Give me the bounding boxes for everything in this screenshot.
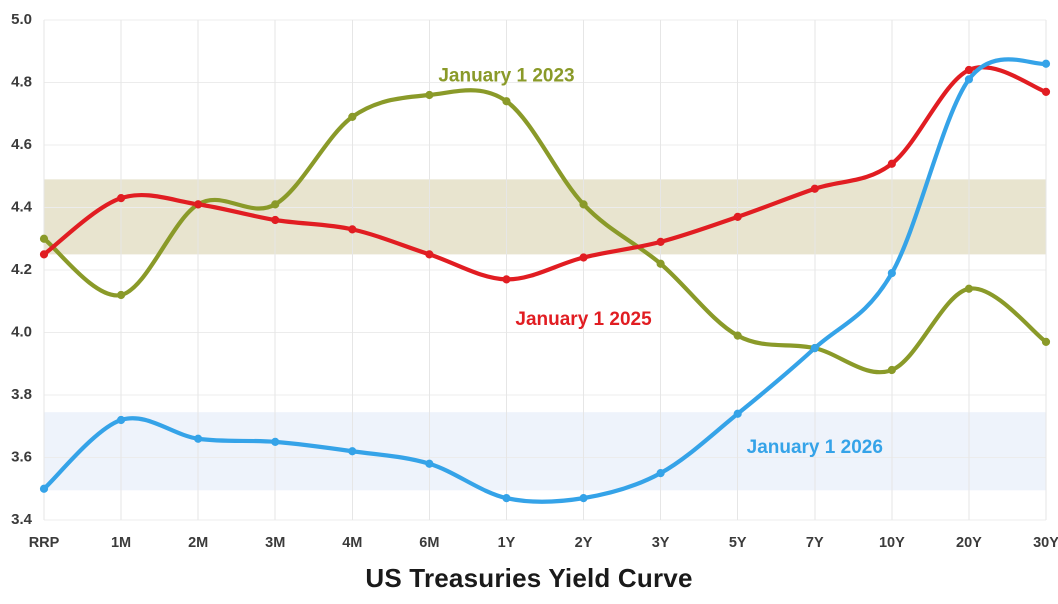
data-point-january-1-2023-2y bbox=[580, 201, 587, 208]
data-point-january-1-2025-3m bbox=[272, 216, 279, 223]
y-tick-label: 4.0 bbox=[11, 323, 32, 340]
y-tick-label: 4.2 bbox=[11, 261, 32, 278]
y-tick-label: 3.4 bbox=[11, 511, 33, 528]
data-point-january-1-2026-rrp bbox=[40, 485, 47, 492]
data-point-january-1-2025-2m bbox=[195, 201, 202, 208]
chart-title: US Treasuries Yield Curve bbox=[365, 563, 692, 593]
data-point-january-1-2025-4m bbox=[349, 226, 356, 233]
data-point-january-1-2026-4m bbox=[349, 448, 356, 455]
data-point-january-1-2026-2m bbox=[195, 435, 202, 442]
y-tick-label: 4.8 bbox=[11, 73, 32, 90]
data-point-january-1-2025-5y bbox=[734, 213, 741, 220]
data-point-january-1-2023-1y bbox=[503, 98, 510, 105]
data-point-january-1-2026-1y bbox=[503, 495, 510, 502]
y-tick-label: 4.4 bbox=[11, 198, 33, 215]
band-lower-band bbox=[44, 412, 1046, 490]
x-tick-label-4m: 4M bbox=[342, 535, 362, 551]
data-point-january-1-2023-3y bbox=[657, 260, 664, 267]
x-tick-label-7y: 7Y bbox=[806, 535, 824, 551]
data-point-january-1-2026-6m bbox=[426, 460, 433, 467]
x-tick-label-2m: 2M bbox=[188, 535, 208, 551]
data-point-january-1-2026-3m bbox=[272, 438, 279, 445]
y-axis-tick-labels: 3.43.63.84.04.24.44.64.85.0 bbox=[11, 11, 33, 528]
data-point-january-1-2026-3y bbox=[657, 470, 664, 477]
y-tick-label: 3.8 bbox=[11, 386, 32, 403]
x-tick-label-5y: 5Y bbox=[729, 535, 747, 551]
series-annotation-january-1-2026: January 1 2026 bbox=[747, 437, 883, 458]
x-tick-label-1y: 1Y bbox=[498, 535, 516, 551]
data-point-january-1-2026-10y bbox=[888, 270, 895, 277]
data-point-january-1-2026-20y bbox=[965, 76, 972, 83]
chart-page: 3.43.63.84.04.24.44.64.85.0 RRP1M2M3M4M6… bbox=[0, 0, 1058, 604]
y-tick-label: 5.0 bbox=[11, 11, 32, 28]
data-point-january-1-2025-30y bbox=[1042, 88, 1049, 95]
data-point-january-1-2023-6m bbox=[426, 91, 433, 98]
y-tick-label: 4.6 bbox=[11, 136, 32, 153]
band-upper-band bbox=[44, 179, 1046, 254]
data-point-january-1-2025-3y bbox=[657, 238, 664, 245]
data-point-january-1-2026-30y bbox=[1042, 60, 1049, 67]
series-annotation-january-1-2025: January 1 2025 bbox=[515, 309, 652, 330]
data-point-january-1-2026-2y bbox=[580, 495, 587, 502]
data-point-january-1-2025-7y bbox=[811, 185, 818, 192]
x-tick-label-30y: 30Y bbox=[1033, 535, 1058, 551]
data-point-january-1-2023-30y bbox=[1042, 338, 1049, 345]
x-tick-label-3y: 3Y bbox=[652, 535, 670, 551]
data-point-january-1-2026-7y bbox=[811, 345, 818, 352]
data-point-january-1-2026-1m bbox=[117, 416, 124, 423]
x-tick-label-rrp: RRP bbox=[29, 535, 60, 551]
data-point-january-1-2025-2y bbox=[580, 254, 587, 261]
data-point-january-1-2025-1m bbox=[117, 195, 124, 202]
data-point-january-1-2023-10y bbox=[888, 366, 895, 373]
x-tick-label-1m: 1M bbox=[111, 535, 131, 551]
data-point-january-1-2023-5y bbox=[734, 332, 741, 339]
data-point-january-1-2025-1y bbox=[503, 276, 510, 283]
data-point-january-1-2025-6m bbox=[426, 251, 433, 258]
data-point-january-1-2025-10y bbox=[888, 160, 895, 167]
data-point-january-1-2023-rrp bbox=[40, 235, 47, 242]
series-annotation-january-1-2023: January 1 2023 bbox=[438, 65, 574, 86]
x-tick-label-6m: 6M bbox=[419, 535, 439, 551]
data-point-january-1-2026-5y bbox=[734, 410, 741, 417]
data-point-january-1-2023-4m bbox=[349, 113, 356, 120]
x-tick-label-10y: 10Y bbox=[879, 535, 905, 551]
data-point-january-1-2023-3m bbox=[272, 201, 279, 208]
yield-curve-chart: 3.43.63.84.04.24.44.64.85.0 RRP1M2M3M4M6… bbox=[0, 0, 1058, 604]
x-tick-label-2y: 2Y bbox=[575, 535, 593, 551]
data-point-january-1-2025-20y bbox=[965, 66, 972, 73]
data-point-january-1-2023-1m bbox=[117, 291, 124, 298]
x-tick-label-3m: 3M bbox=[265, 535, 285, 551]
chart-background bbox=[0, 0, 1058, 604]
data-point-january-1-2025-rrp bbox=[40, 251, 47, 258]
y-tick-label: 3.6 bbox=[11, 448, 32, 465]
data-point-january-1-2023-20y bbox=[965, 285, 972, 292]
x-tick-label-20y: 20Y bbox=[956, 535, 982, 551]
